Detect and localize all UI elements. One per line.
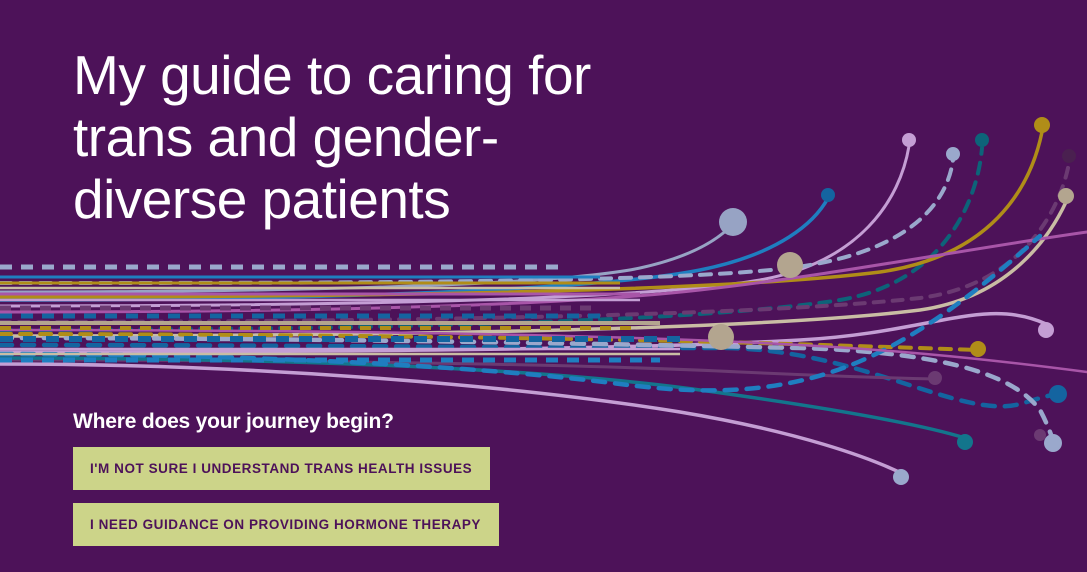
page-title: My guide to caring for trans and gender-…	[73, 44, 693, 230]
cta-button-understand-trans-health[interactable]: I'M NOT SURE I UNDERSTAND TRANS HEALTH I…	[73, 447, 490, 490]
content-layer: My guide to caring for trans and gender-…	[0, 0, 1087, 572]
cta-button-hormone-therapy-guidance[interactable]: I NEED GUIDANCE ON PROVIDING HORMONE THE…	[73, 503, 499, 546]
cta-block: Where does your journey begin? I'M NOT S…	[73, 409, 593, 559]
page-root: My guide to caring for trans and gender-…	[0, 0, 1087, 572]
cta-prompt: Where does your journey begin?	[73, 409, 593, 435]
